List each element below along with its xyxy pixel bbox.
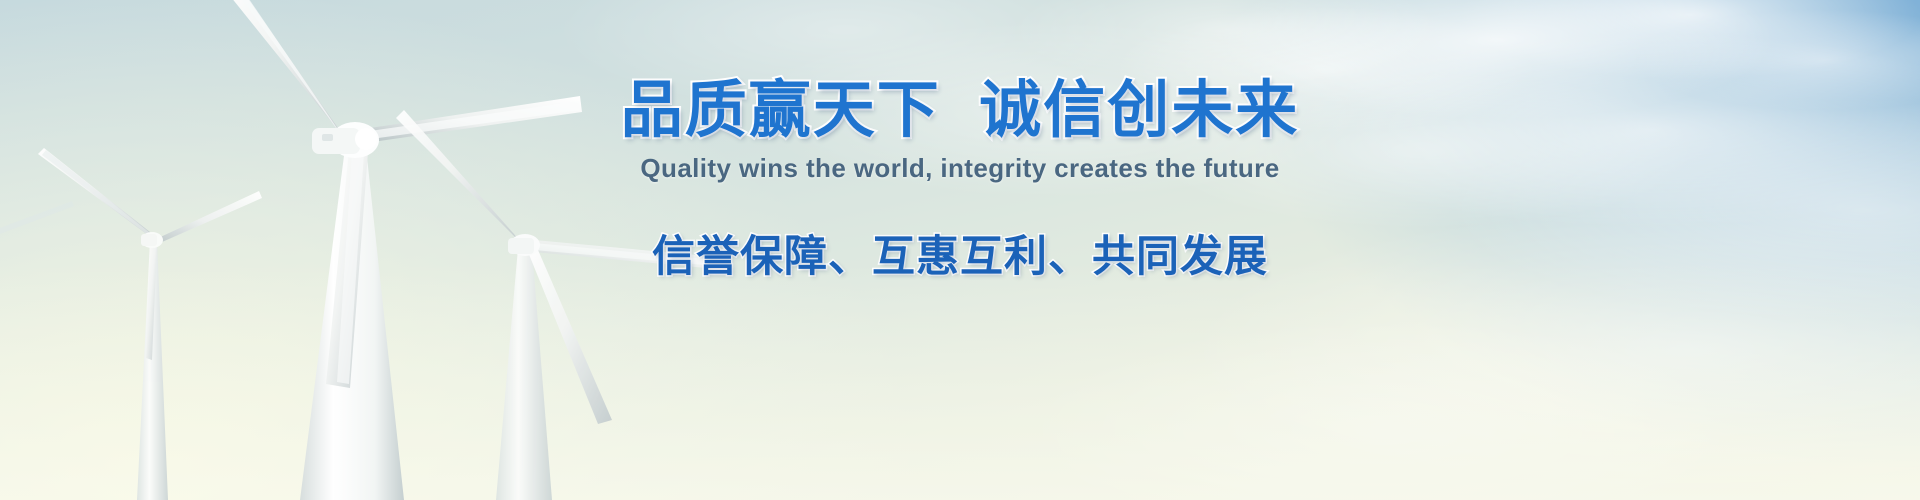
banner-subline-english: Quality wins the world, integrity create… xyxy=(640,153,1279,184)
banner-headline: 品质赢天下 诚信创未来 xyxy=(621,78,1299,143)
banner-tagline: 信誉保障、互惠互利、共同发展 xyxy=(652,222,1268,284)
hero-banner: 品质赢天下 诚信创未来 Quality wins the world, inte… xyxy=(0,0,1920,500)
banner-text-block: 品质赢天下 诚信创未来 Quality wins the world, inte… xyxy=(0,0,1920,500)
